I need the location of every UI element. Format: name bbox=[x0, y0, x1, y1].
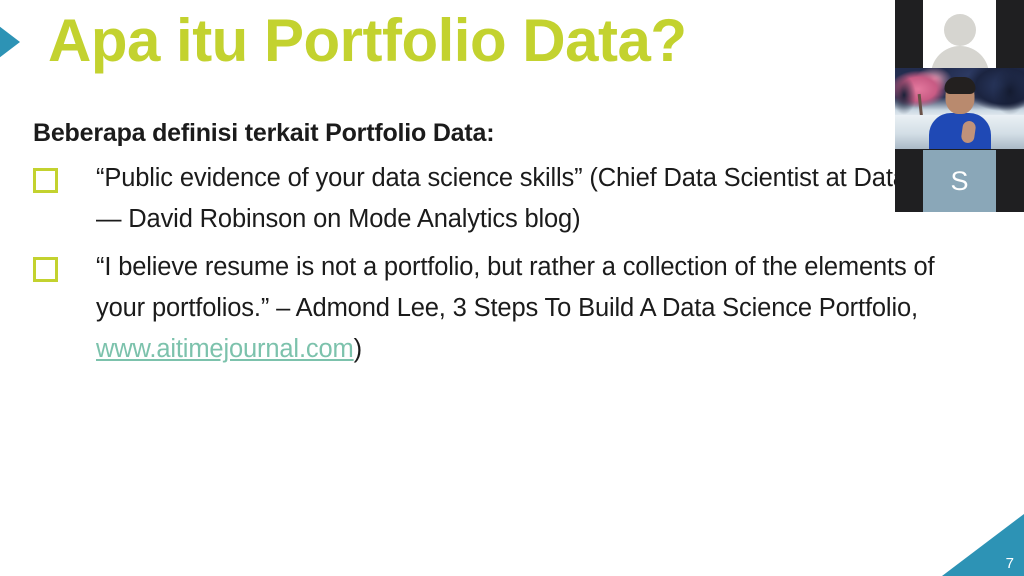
bullet-item-2: “I believe resume is not a portfolio, bu… bbox=[33, 247, 983, 371]
slide-canvas: Apa itu Portfolio Data? Beberapa definis… bbox=[0, 0, 1024, 576]
person-avatar-body-icon bbox=[931, 46, 989, 68]
participant-tile-video[interactable] bbox=[895, 68, 1024, 149]
bullet-text-1-body: “Public evidence of your data science sk… bbox=[96, 164, 974, 233]
speaker-hair bbox=[944, 77, 975, 94]
participant-tile-avatar[interactable] bbox=[923, 0, 996, 68]
page-number: 7 bbox=[1006, 556, 1014, 571]
bullet-text-2-tail: ) bbox=[354, 335, 362, 363]
hollow-square-bullet-icon bbox=[33, 257, 58, 282]
speaker-torso bbox=[929, 113, 991, 149]
video-call-overlay[interactable]: S bbox=[895, 0, 1024, 212]
page-title: Apa itu Portfolio Data? bbox=[48, 6, 888, 77]
lead-line: Beberapa definisi terkait Portfolio Data… bbox=[33, 118, 983, 148]
bullet-text-2: “I believe resume is not a portfolio, bu… bbox=[96, 247, 983, 371]
bullet-text-2-body: “I believe resume is not a portfolio, bu… bbox=[96, 253, 934, 322]
bullet-item-1: “Public evidence of your data science sk… bbox=[33, 158, 983, 241]
participant-tile-initial[interactable]: S bbox=[923, 150, 996, 212]
aitimejournal-link[interactable]: www.aitimejournal.com bbox=[96, 335, 354, 363]
title-arrow-icon bbox=[0, 16, 20, 68]
person-avatar-icon bbox=[944, 14, 976, 46]
slide-body: Beberapa definisi terkait Portfolio Data… bbox=[33, 118, 983, 376]
bullet-text-1: “Public evidence of your data science sk… bbox=[96, 158, 983, 241]
hollow-square-bullet-icon bbox=[33, 168, 58, 193]
